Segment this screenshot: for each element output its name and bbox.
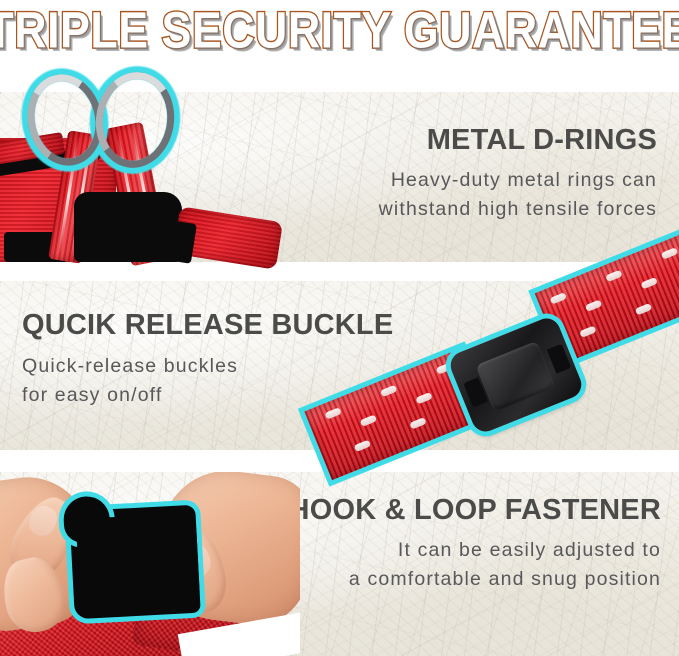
reflective-dash [354, 440, 371, 452]
infographic-root: TRIPLE SECURITY GUARANTEE METAL D-RINGS … [0, 0, 679, 656]
hook-and-loop-patch [69, 505, 200, 619]
reflective-dash [585, 299, 602, 311]
feature-body-line: It can be easily adjusted to [261, 536, 661, 565]
reflective-dash [409, 417, 426, 429]
feature-text-hook-and-loop-fastener: HOOK & LOOP FASTENER It can be easily ad… [261, 494, 661, 594]
reflective-dash [550, 292, 567, 304]
reflective-dash [579, 325, 596, 337]
reflective-dash [380, 385, 397, 397]
feature-heading: QUCIK RELEASE BUCKLE [22, 309, 422, 342]
product-photo-metal-d-rings [0, 62, 330, 262]
feature-body-line: Heavy-duty metal rings can [327, 166, 657, 195]
feature-body-line: withstand high tensile forces [327, 195, 657, 224]
feature-heading: HOOK & LOOP FASTENER [261, 494, 661, 527]
feature-heading: METAL D-RINGS [327, 124, 657, 157]
harness-hardware-right [165, 220, 197, 264]
reflective-dash [635, 303, 652, 315]
feature-body-line: Quick-release buckles [22, 352, 422, 381]
hook-and-loop-patch-inner [76, 513, 201, 615]
page-title: TRIPLE SECURITY GUARANTEE [0, 5, 679, 57]
page-title-bar: TRIPLE SECURITY GUARANTEE [0, 0, 679, 62]
reflective-dash [640, 277, 657, 289]
reflective-dash [661, 247, 678, 259]
feature-text-metal-d-rings: METAL D-RINGS Heavy-duty metal rings can… [327, 124, 657, 224]
buckle-release-prong [547, 344, 572, 374]
reflective-dash [415, 392, 432, 404]
reflective-dash [360, 414, 377, 426]
reflective-dash [324, 407, 341, 419]
reflective-dash [605, 270, 622, 282]
product-photo-hook-and-loop-fastener [0, 472, 300, 656]
product-photo-quick-release-buckle [392, 281, 679, 477]
feature-body-line: a comfortable and snug position [261, 565, 661, 594]
